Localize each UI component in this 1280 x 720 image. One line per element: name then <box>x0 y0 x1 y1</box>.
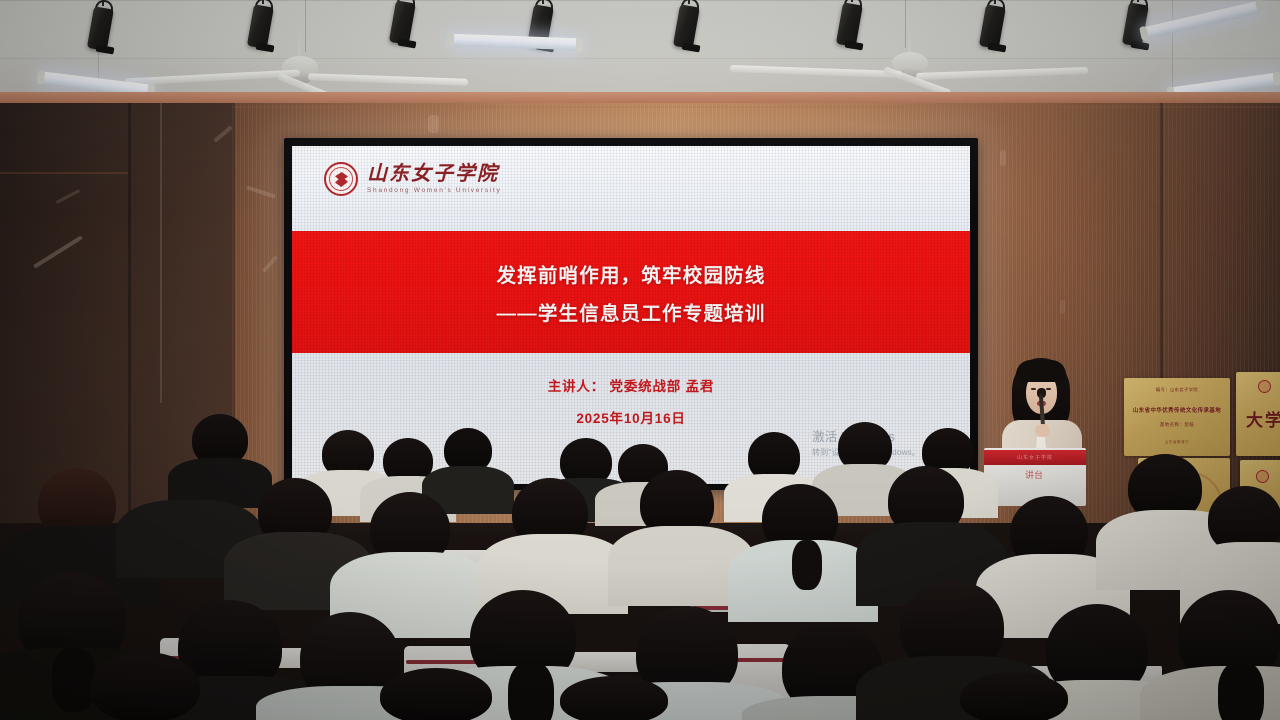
lecture-hall-photo: 山东女子学院 Shandong Women's University 发挥前哨作… <box>0 0 1280 720</box>
audience <box>0 400 1280 720</box>
audience-head <box>560 676 668 720</box>
ponytail <box>792 540 822 590</box>
ceiling-fan-icon <box>790 28 1030 98</box>
university-name-cn: 山东女子学院 <box>367 164 501 184</box>
audience-head <box>380 668 492 720</box>
presenter-fringe <box>1016 360 1066 382</box>
slide-speaker: 主讲人： 党委统战部 孟君 <box>548 375 714 395</box>
slide-title-band: 发挥前哨作用，筑牢校园防线 ——学生信息员工作专题培训 <box>292 231 970 353</box>
ponytail <box>508 662 554 720</box>
slide-subtitle: ——学生信息员工作专题培训 <box>496 297 765 326</box>
university-seal-icon <box>324 162 358 196</box>
plaque-line-1: 编号：山东女子学院 <box>1124 387 1230 393</box>
slide-title: 发挥前哨作用，筑牢校园防线 <box>496 259 765 288</box>
slide-header: 山东女子学院 Shandong Women's University <box>292 146 970 231</box>
audience-head <box>960 672 1068 720</box>
university-name-en: Shandong Women's University <box>367 187 501 194</box>
university-logo: 山东女子学院 Shandong Women's University <box>324 162 501 196</box>
audience-head <box>90 652 200 720</box>
ponytail <box>1218 662 1264 720</box>
ponytail <box>52 648 96 712</box>
